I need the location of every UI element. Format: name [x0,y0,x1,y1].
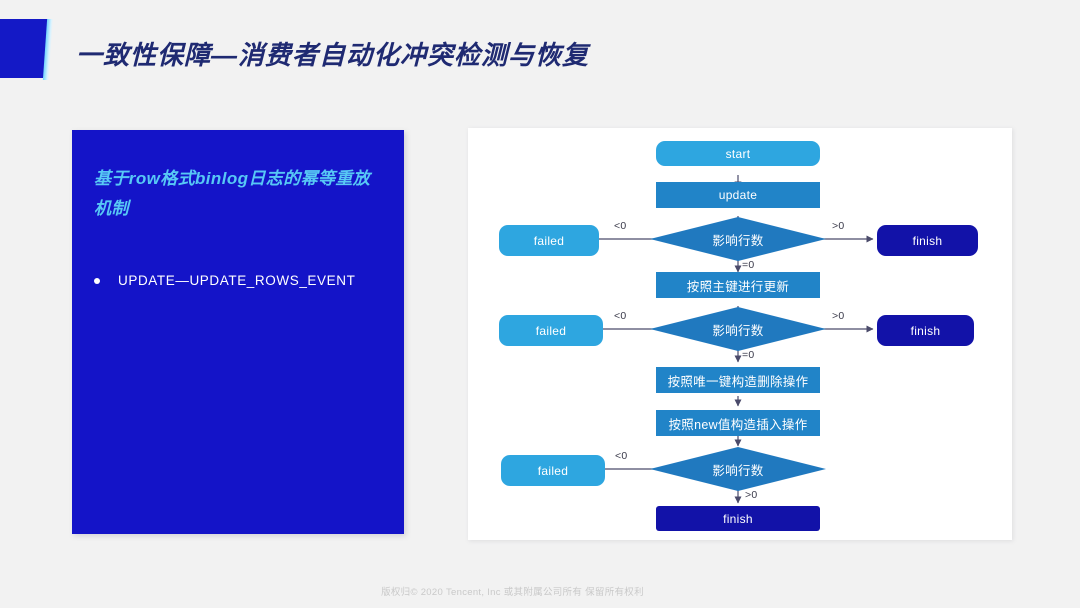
page-title: 一致性保障—消费者自动化冲突检测与恢复 [76,35,589,72]
flow-node-update-by-pk[interactable]: 按照主键进行更新 [656,272,820,298]
flow-node-label: failed [538,464,569,478]
panel-heading: 基于row格式binlog日志的幂等重放机制 [94,164,386,224]
bullet-dot-icon [94,278,100,284]
flow-decision-2[interactable]: 影响行数 [650,307,826,351]
flow-node-build-insert[interactable]: 按照new值构造插入操作 [656,410,820,436]
flow-node-finish-3[interactable]: finish [656,506,820,531]
flow-node-failed-2[interactable]: failed [499,315,603,346]
flow-node-label: 按照唯一键构造删除操作 [668,371,809,390]
flow-decision-3[interactable]: 影响行数 [650,447,826,491]
edge-label-eq-1: =0 [742,259,754,271]
flow-node-label: finish [911,324,941,338]
edge-label-eq-2: =0 [742,349,754,361]
edge-label-gt-2: >0 [832,310,844,322]
flow-node-label: failed [536,324,567,338]
flow-node-label: 影响行数 [712,320,763,339]
flow-decision-1[interactable]: 影响行数 [650,217,826,261]
edge-label-lt-1: <0 [614,220,626,232]
tencent-square-logo-icon [0,19,50,78]
left-info-panel: 基于row格式binlog日志的幂等重放机制 UPDATE—UPDATE_ROW… [72,130,404,534]
flow-node-label: finish [913,234,943,248]
flow-node-finish-2[interactable]: finish [877,315,974,346]
flow-node-failed-3[interactable]: failed [501,455,605,486]
edge-label-gt-3: >0 [745,489,757,501]
flow-node-build-delete[interactable]: 按照唯一键构造删除操作 [656,367,820,393]
footer-copyright: 版权归© 2020 Tencent, Inc 或其附属公司所有 保留所有权利 [0,584,1080,598]
flowchart: start update failed 影响行数 finish 按照主键进行更新… [468,128,1012,540]
flow-node-label: 影响行数 [712,460,763,479]
flow-node-failed-1[interactable]: failed [499,225,599,256]
flow-node-label: finish [723,512,753,526]
edge-label-lt-2: <0 [614,310,626,322]
flow-node-label: 按照new值构造插入操作 [668,414,807,433]
flow-node-label: 影响行数 [712,230,763,249]
flow-node-label: failed [534,234,565,248]
flow-node-finish-1[interactable]: finish [877,225,978,256]
panel-bullet-text: UPDATE—UPDATE_ROWS_EVENT [118,273,355,288]
flowchart-card: start update failed 影响行数 finish 按照主键进行更新… [468,128,1012,540]
list-item: UPDATE—UPDATE_ROWS_EVENT [94,273,355,288]
flow-node-label: 按照主键进行更新 [687,276,789,295]
flow-node-start[interactable]: start [656,141,820,166]
flow-node-label: update [719,188,758,202]
slide: 一致性保障—消费者自动化冲突检测与恢复 基于row格式binlog日志的幂等重放… [0,0,1080,608]
flow-node-update[interactable]: update [656,182,820,208]
edge-label-lt-3: <0 [615,450,627,462]
flow-node-label: start [726,147,751,161]
edge-label-gt-1: >0 [832,220,844,232]
